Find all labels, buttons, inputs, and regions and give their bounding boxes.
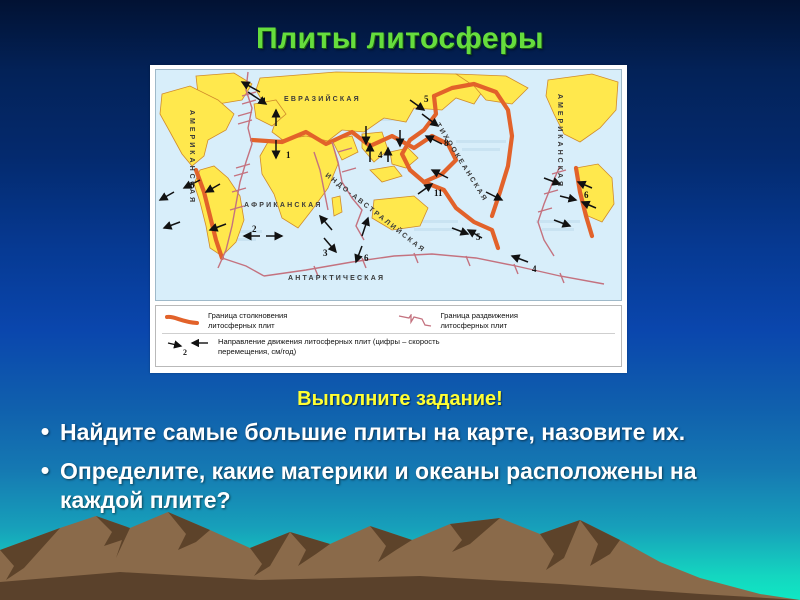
bullet-text: Определите, какие материки и океаны расп… <box>60 457 750 515</box>
task-heading: Выполните задание! <box>0 388 800 411</box>
legend-line: Граница столкновения <box>208 311 287 321</box>
legend-speed-number: 2 <box>183 348 187 357</box>
page-title: Плиты литосферы <box>0 22 800 56</box>
task-bullet-list: • Найдите самые большие плиты на карте, … <box>30 418 750 525</box>
legend-text-motion: Направление движения литосферных плит (ц… <box>218 337 440 357</box>
list-item: • Определите, какие материки и океаны ра… <box>30 457 750 515</box>
legend-line: литосферных плит <box>208 321 287 331</box>
convergent-boundary-icon <box>156 311 208 326</box>
motion-arrows-icon: 2 <box>156 337 218 359</box>
legend-line: Граница раздвижения <box>441 311 518 321</box>
legend-divider <box>162 333 615 334</box>
bullet-marker-icon: • <box>30 457 60 483</box>
bullet-marker-icon: • <box>30 418 60 444</box>
mountain-silhouette <box>0 510 800 600</box>
legend-line: Направление движения литосферных плит (ц… <box>218 337 440 347</box>
bullet-text: Найдите самые большие плиты на карте, на… <box>60 418 685 447</box>
legend-text-divergent: Граница раздвижения литосферных плит <box>441 311 518 331</box>
lithospheric-plates-map: ЕВРАЗИЙСКАЯ АФРИКАНСКАЯ АНТАРКТИЧЕСКАЯ Т… <box>150 65 627 373</box>
world-map-svg <box>156 70 621 300</box>
legend-item-divergent: Граница раздвижения литосферных плит <box>389 311 622 331</box>
divergent-boundary-icon <box>389 311 441 328</box>
legend-line: литосферных плит <box>441 321 518 331</box>
map-canvas: ЕВРАЗИЙСКАЯ АФРИКАНСКАЯ АНТАРКТИЧЕСКАЯ Т… <box>155 69 622 301</box>
legend-line: перемещения, см/год) <box>218 347 440 357</box>
legend-text-convergent: Граница столкновения литосферных плит <box>208 311 287 331</box>
legend-item-convergent: Граница столкновения литосферных плит <box>156 311 389 331</box>
map-legend: Граница столкновения литосферных плит Гр… <box>155 305 622 367</box>
list-item: • Найдите самые большие плиты на карте, … <box>30 418 750 447</box>
